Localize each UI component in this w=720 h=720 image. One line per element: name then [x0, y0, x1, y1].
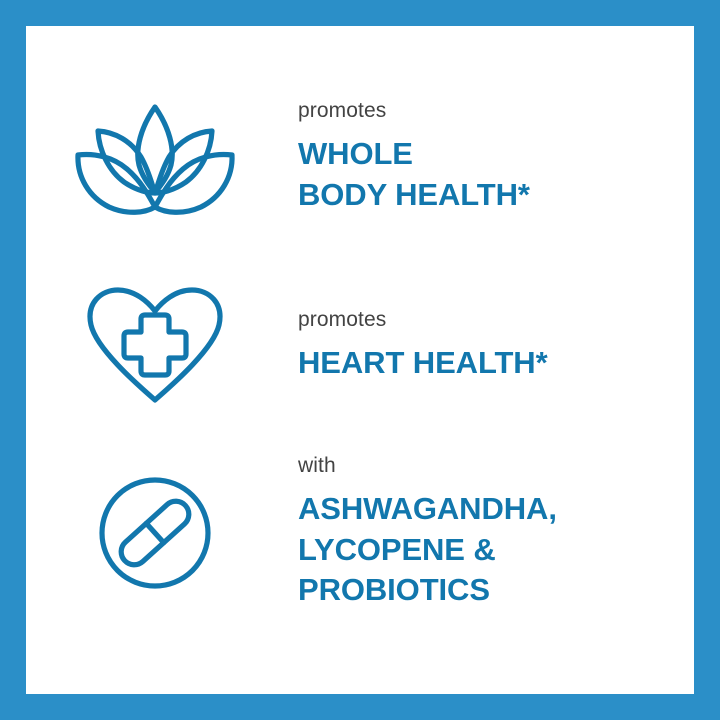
headline-line: LYCOPENE &	[298, 530, 694, 571]
heart-health-text-cell: promotes HEART HEALTH*	[284, 309, 694, 384]
lotus-icon-cell	[26, 97, 284, 219]
headline-ingredients: ASHWAGANDHA, LYCOPENE & PROBIOTICS	[298, 489, 694, 612]
product-benefits-panel: promotes WHOLE BODY HEALTH*	[0, 0, 720, 720]
ingredients-text-cell: with ASHWAGANDHA, LYCOPENE & PROBIOTICS	[284, 455, 694, 612]
heart-with-cross-icon	[85, 285, 225, 407]
headline-line: BODY HEALTH*	[298, 175, 694, 216]
panel-inner-white-area: promotes WHOLE BODY HEALTH*	[26, 26, 694, 694]
benefit-row-ingredients: with ASHWAGANDHA, LYCOPENE & PROBIOTICS	[26, 438, 694, 628]
headline-line: HEART HEALTH*	[298, 343, 694, 384]
whole-body-health-text-cell: promotes WHOLE BODY HEALTH*	[284, 100, 694, 216]
pill-in-circle-icon	[98, 476, 212, 590]
headline-line: ASHWAGANDHA,	[298, 489, 694, 530]
heart-icon-cell	[26, 285, 284, 407]
eyebrow-label-ingredients: with	[298, 455, 694, 476]
eyebrow-label-heart: promotes	[298, 309, 694, 330]
pill-icon-cell	[26, 476, 284, 590]
benefit-row-whole-body-health: promotes WHOLE BODY HEALTH*	[26, 78, 694, 238]
headline-line: WHOLE	[298, 134, 694, 175]
headline-heart-health: HEART HEALTH*	[298, 343, 694, 384]
eyebrow-label-whole-body: promotes	[298, 100, 694, 121]
headline-whole-body-health: WHOLE BODY HEALTH*	[298, 134, 694, 216]
headline-line: PROBIOTICS	[298, 570, 694, 611]
benefit-row-heart-health: promotes HEART HEALTH*	[26, 266, 694, 426]
lotus-flower-icon	[73, 97, 237, 219]
